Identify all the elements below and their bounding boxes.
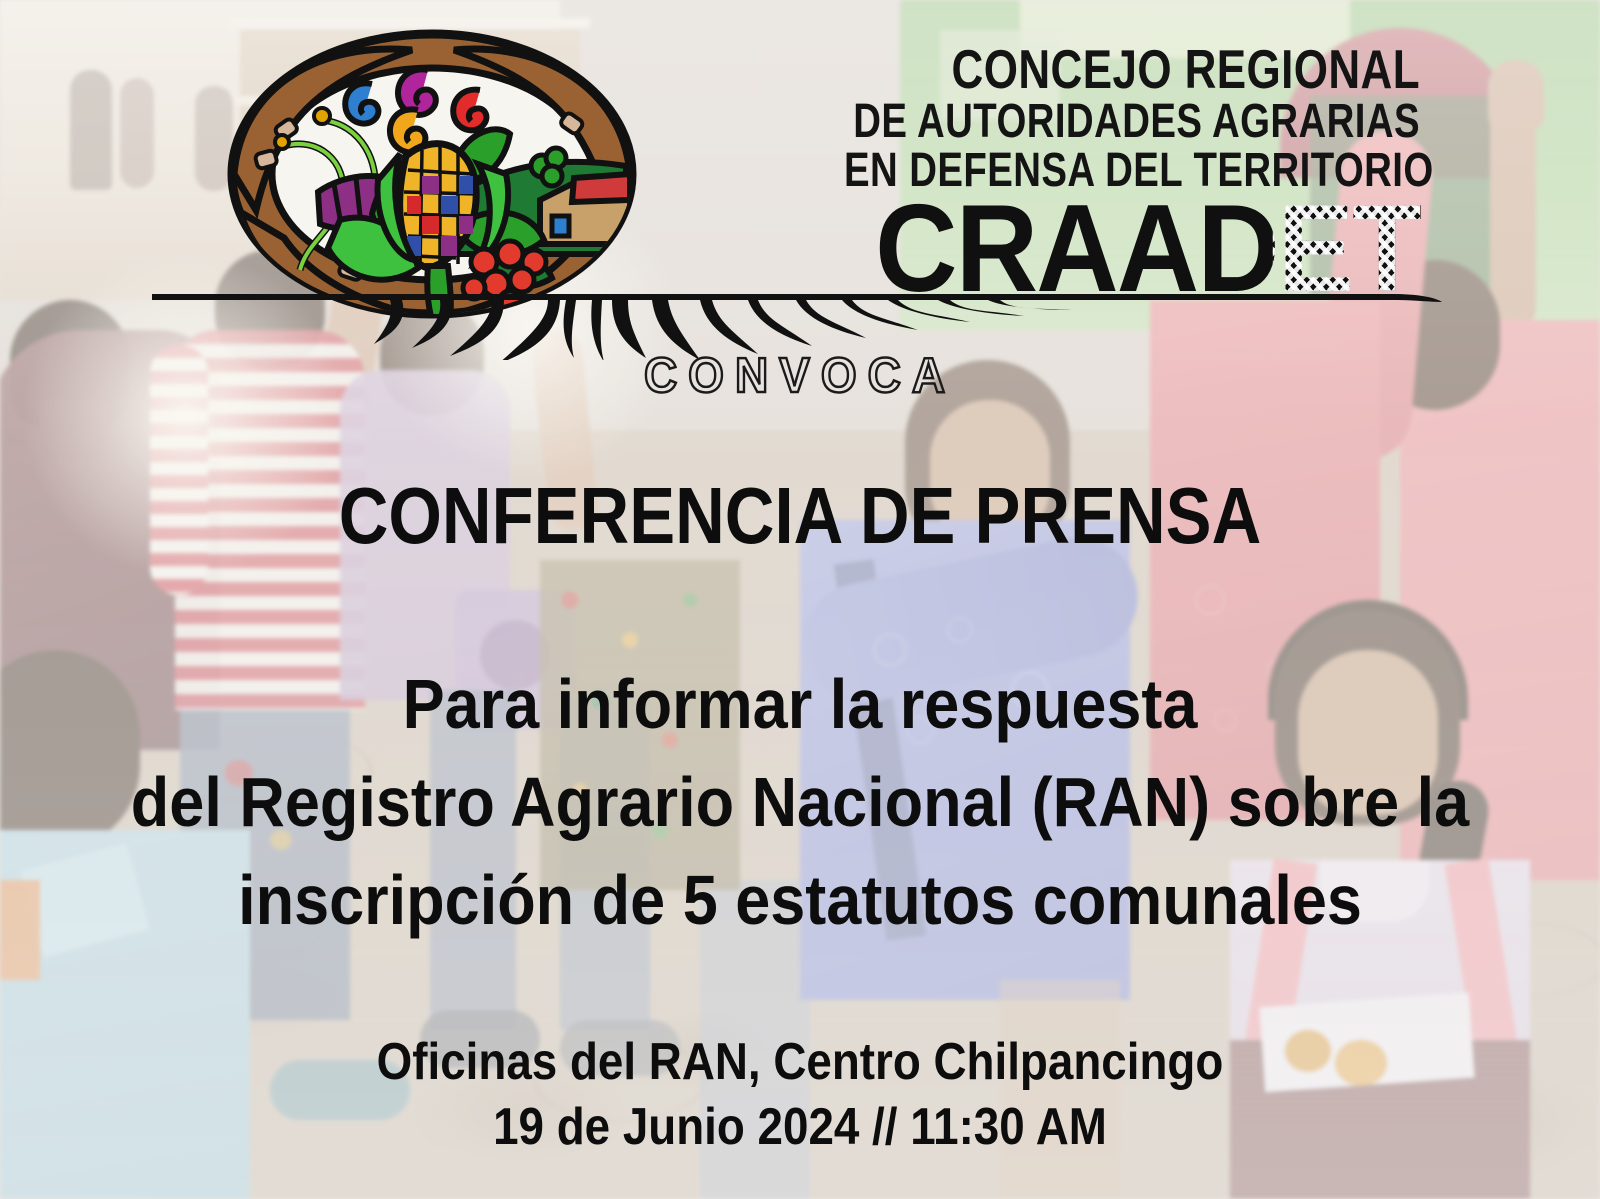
body-line-2: del Registro Agrario Nacional (RAN) sobr… bbox=[80, 753, 1520, 851]
org-line-1: CONCEJO REGIONAL bbox=[844, 44, 1420, 95]
datetime-text: 19 de Junio 2024 // 11:30 AM bbox=[96, 1095, 1504, 1160]
organization-name-block: CONCEJO REGIONAL DE AUTORIDADES AGRARIAS… bbox=[700, 44, 1420, 193]
body-line-1: Para informar la respuesta bbox=[80, 655, 1520, 753]
poster-canvas: CONCEJO REGIONAL DE AUTORIDADES AGRARIAS… bbox=[0, 0, 1600, 1199]
venue-text: Oficinas del RAN, Centro Chilpancingo bbox=[96, 1030, 1504, 1095]
page-title: CONFERENCIA DE PRENSA bbox=[112, 470, 1488, 562]
footer-details-block: Oficinas del RAN, Centro Chilpancingo 19… bbox=[0, 1030, 1600, 1160]
acronym-craadet: CRAADET bbox=[758, 196, 1420, 303]
body-text-block: Para informar la respuesta del Registro … bbox=[0, 655, 1600, 949]
org-line-2: DE AUTORIDADES AGRARIAS bbox=[844, 100, 1420, 144]
convoca-label: CONVOCA bbox=[0, 346, 1600, 403]
body-line-3: inscripción de 5 estatutos comunales bbox=[80, 851, 1520, 949]
